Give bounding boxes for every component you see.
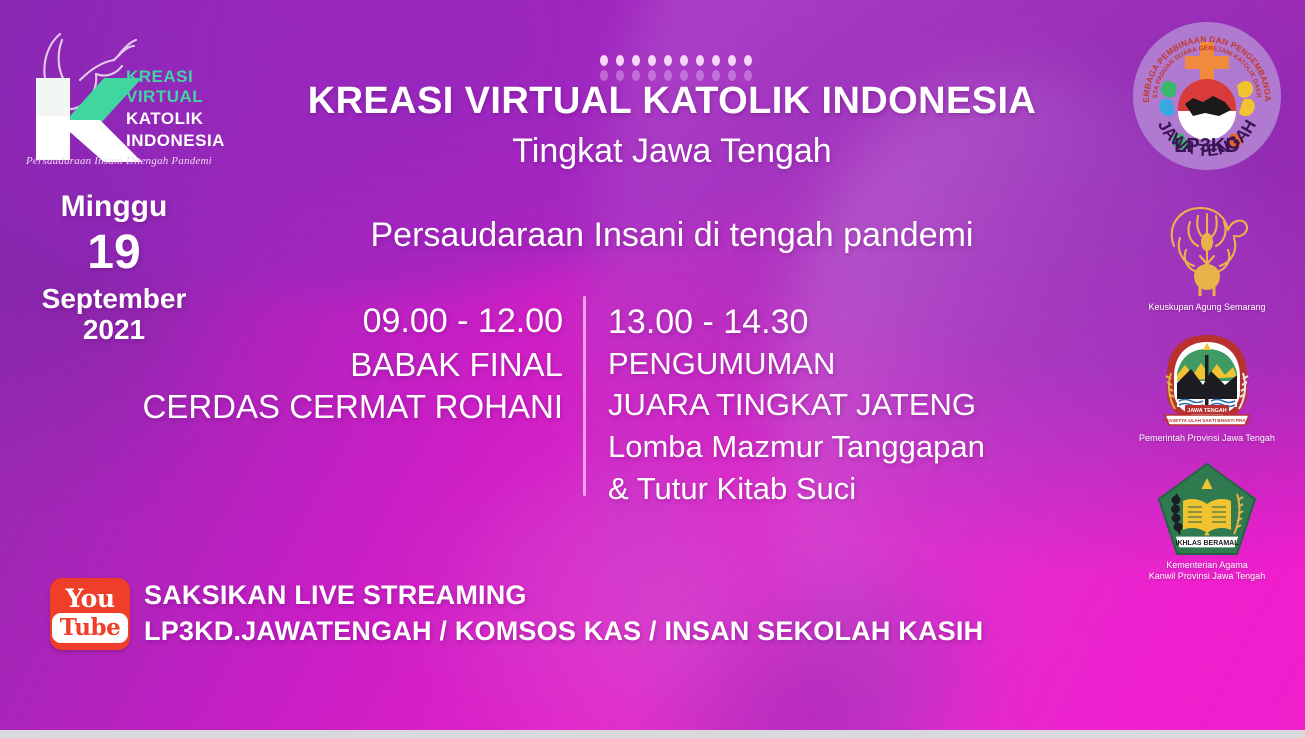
logo-keuskupan-agung-semarang: Keuskupan Agung Semarang: [1117, 198, 1297, 313]
shield-label: JAWA TENGAH: [1187, 408, 1226, 414]
event-level: Tingkat Jawa Tengah: [236, 131, 1108, 172]
dot-decoration: [600, 55, 752, 66]
youtube-badge-top: You: [65, 586, 114, 611]
event-poster: KREASI VIRTUAL KATOLIK INDONESIA Persaud…: [0, 0, 1305, 738]
session-2-line-4: & Tutur Kitab Suci: [608, 468, 1128, 510]
session-2-line-1: PENGUMUMAN: [608, 344, 1128, 385]
logo-pemerintah-provinsi-jawa-tengah: JAWA TENGAH PRASETYA ULAH SAKTI BHAKTI P…: [1117, 329, 1297, 444]
schedule-session-1: 09.00 - 12.00 BABAK FINAL CERDAS CERMAT …: [80, 300, 563, 429]
dot: [728, 55, 736, 66]
jawa-tengah-coat-of-arms-icon: JAWA TENGAH PRASETYA ULAH SAKTI BHAKTI P…: [1151, 329, 1263, 431]
partner-logo-column: LEMBAGA PEMBINAAN DAN PENGEMBANGAN PESTA…: [1117, 16, 1297, 582]
brand-tagline: Persaudaraan Insani Ditengah Pandemi: [26, 155, 206, 167]
kemenag-caption-line-2: Kanwil Provinsi Jawa Tengah: [1149, 571, 1265, 582]
phoenix-emblem-icon: [1152, 198, 1262, 300]
session-1-line-2: CERDAS CERMAT ROHANI: [80, 386, 563, 429]
dot: [712, 55, 720, 66]
open-book-icon: [1183, 499, 1231, 533]
schedule-divider: [583, 296, 586, 496]
tugu-icon: [1205, 355, 1209, 407]
kementerian-agama-emblem-icon: IKHLAS BERAMAL: [1153, 460, 1261, 558]
bottom-strip: [0, 730, 1305, 738]
schedule-session-2: 13.00 - 14.30 PENGUMUMAN JUARA TINGKAT J…: [608, 300, 1128, 509]
dot: [648, 55, 656, 66]
dot: [744, 55, 752, 66]
dot: [696, 55, 704, 66]
session-2-line-3: Lomba Mazmur Tanggapan: [608, 426, 1128, 468]
brand-line-virtual: VIRTUAL: [126, 87, 203, 106]
streaming-text: SAKSIKAN LIVE STREAMING LP3KD.JAWATENGAH…: [144, 578, 983, 649]
live-streaming-banner: You Tube SAKSIKAN LIVE STREAMING LP3KD.J…: [50, 578, 983, 650]
logo-lp3kd: LEMBAGA PEMBINAAN DAN PENGEMBANGAN PESTA…: [1117, 16, 1297, 176]
session-2-line-2: JUARA TINGKAT JATENG: [608, 385, 1128, 426]
streaming-channels: LP3KD.JAWATENGAH / KOMSOS KAS / INSAN SE…: [144, 614, 983, 650]
event-theme: Persaudaraan Insani di tengah pandemi: [236, 216, 1108, 255]
headline-block: KREASI VIRTUAL KATOLIK INDONESIA Tingkat…: [236, 80, 1108, 171]
brand-line-indonesia: INDONESIA: [126, 131, 225, 150]
date-day-number: 19: [6, 223, 222, 283]
kemenag-motto: IKHLAS BERAMAL: [1176, 540, 1240, 547]
dot: [632, 55, 640, 66]
dot: [680, 55, 688, 66]
session-1-time: 09.00 - 12.00: [80, 300, 563, 344]
logo-caption-kemenag: Kementerian Agama Kanwil Provinsi Jawa T…: [1149, 560, 1265, 582]
youtube-icon[interactable]: You Tube: [50, 578, 130, 650]
logo-caption-keuskupan: Keuskupan Agung Semarang: [1148, 302, 1265, 313]
brand-line-katolik: KATOLIK: [126, 109, 204, 128]
provinsi-motto: PRASETYA ULAH SAKTI BHAKTI PRAJA: [1163, 418, 1253, 423]
streaming-headline: SAKSIKAN LIVE STREAMING: [144, 578, 983, 614]
phoenix-body: [1194, 233, 1220, 296]
dot: [616, 55, 624, 66]
event-title: KREASI VIRTUAL KATOLIK INDONESIA: [236, 80, 1108, 123]
youtube-badge-bottom: Tube: [52, 613, 128, 643]
brand-line-kreasi: KREASI: [126, 67, 193, 86]
dot: [600, 55, 608, 66]
session-1-line-1: BABAK FINAL: [80, 344, 563, 387]
session-2-time: 13.00 - 14.30: [608, 300, 1128, 344]
dot: [664, 55, 672, 66]
logo-kementerian-agama: IKHLAS BERAMAL Kementerian Agama Kanwil …: [1117, 460, 1297, 582]
date-day-name: Minggu: [6, 190, 222, 223]
logo-caption-provinsi: Pemerintah Provinsi Jawa Tengah: [1139, 433, 1275, 444]
kemenag-caption-line-1: Kementerian Agama: [1149, 560, 1265, 571]
